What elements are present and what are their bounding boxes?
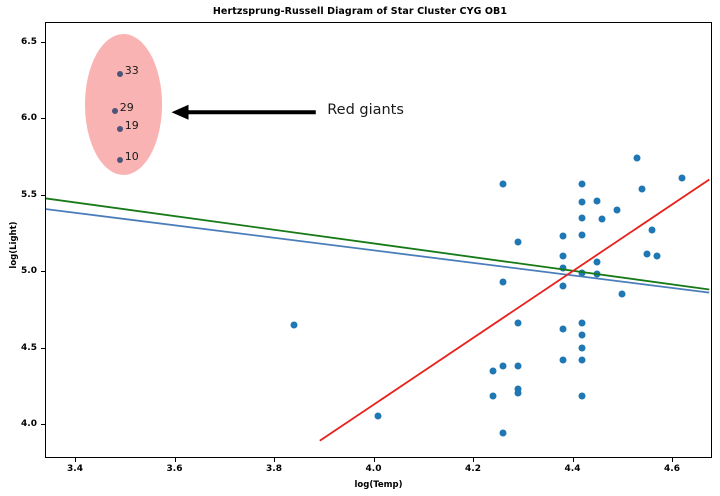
plot-frame <box>45 22 712 458</box>
x-tick-label: 3.6 <box>167 464 183 474</box>
x-tick-label: 4.4 <box>565 464 581 474</box>
x-tick-mark <box>274 458 275 462</box>
x-tick-label: 3.4 <box>67 464 83 474</box>
hr-diagram-figure: Hertzsprung-Russell Diagram of Star Clus… <box>0 0 720 496</box>
x-tick-mark <box>473 458 474 462</box>
y-tick-label: 4.0 <box>21 419 37 429</box>
y-tick-mark <box>41 424 45 425</box>
x-tick-mark <box>75 458 76 462</box>
y-tick-label: 6.5 <box>21 37 37 47</box>
y-tick-mark <box>41 118 45 119</box>
y-tick-label: 6.0 <box>21 113 37 123</box>
x-tick-label: 4.0 <box>366 464 382 474</box>
x-tick-mark <box>175 458 176 462</box>
x-tick-label: 4.6 <box>664 464 680 474</box>
y-tick-mark <box>41 195 45 196</box>
x-tick-mark <box>672 458 673 462</box>
red-giants-annotation-label: Red giants <box>327 102 404 118</box>
chart-title: Hertzsprung-Russell Diagram of Star Clus… <box>0 6 720 17</box>
y-tick-mark <box>41 271 45 272</box>
y-tick-mark <box>41 348 45 349</box>
x-tick-label: 4.2 <box>465 464 481 474</box>
y-axis-label: log(Light) <box>9 185 19 305</box>
x-tick-mark <box>573 458 574 462</box>
y-tick-label: 5.0 <box>21 266 37 276</box>
x-tick-label: 3.8 <box>266 464 282 474</box>
x-axis-label: log(Temp) <box>45 480 712 490</box>
y-tick-label: 5.5 <box>21 190 37 200</box>
y-tick-label: 4.5 <box>21 343 37 353</box>
y-tick-mark <box>41 42 45 43</box>
x-tick-mark <box>374 458 375 462</box>
